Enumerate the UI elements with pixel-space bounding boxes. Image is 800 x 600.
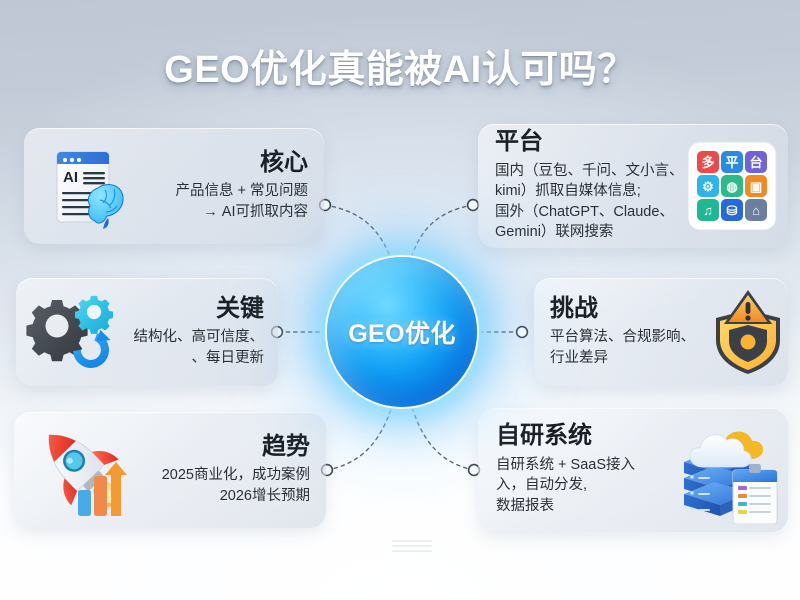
svg-text:多: 多 (701, 155, 714, 170)
card-platform[interactable]: 平台 国内（豆包、千问、文小言、 kimi）抓取自媒体信息; 国外（ChatGP… (478, 124, 788, 248)
page-title: GEO优化真能被AI认可吗？ (0, 38, 800, 93)
server-cloud-report-icon (676, 416, 784, 524)
svg-text:⚙: ⚙ (702, 179, 714, 194)
gears-refresh-icon (24, 284, 120, 380)
connector-path-trend-card (327, 404, 393, 470)
card-core-title: 核心 (260, 150, 308, 176)
card-key-title: 关键 (216, 296, 264, 322)
connector-path-core-card (325, 205, 392, 261)
card-challenge[interactable]: 挑战 平台算法、合规影响、 行业差异 (534, 278, 788, 386)
card-challenge-desc: 平台算法、合规影响、 行业差异 (550, 327, 695, 368)
card-system[interactable]: 自研系统 自研系统 + SaaS接入 入，自动分发, 数据报表 (478, 408, 788, 532)
card-platform-desc: 国内（豆包、千问、文小言、 kimi）抓取自媒体信息; 国外（ChatGPT、C… (495, 161, 684, 243)
infographic-canvas: GEO优化真能被AI认可吗？ (0, 0, 800, 600)
card-system-desc: 自研系统 + SaaS接入 入，自动分发, 数据报表 (496, 455, 635, 517)
connector-node-platform-card (468, 200, 479, 211)
card-key[interactable]: 关键 结构化、高可信度、 、每日更新 (16, 278, 278, 386)
svg-text:◍: ◍ (726, 179, 737, 194)
card-trend-title: 趋势 (262, 434, 310, 460)
svg-text:AI: AI (63, 169, 78, 186)
connector-node-challenge-card (517, 327, 528, 338)
connector-path-platform-card (410, 205, 473, 261)
card-trend-desc: 2025商业化，成功案例 2026增长预期 (162, 465, 310, 506)
card-system-title: 自研系统 (496, 423, 592, 449)
card-trend[interactable]: 趋势 2025商业化，成功案例 2026增长预期 (14, 412, 326, 528)
card-key-desc: 结构化、高可信度、 、每日更新 (134, 327, 265, 368)
svg-text:平: 平 (725, 155, 738, 170)
svg-text:♫: ♫ (703, 203, 713, 218)
shield-warning-icon (702, 284, 794, 380)
svg-text:台: 台 (749, 155, 762, 170)
card-core-desc: 产品信息 + 常见问题 → AI可抓取内容 (175, 181, 308, 222)
center-node[interactable]: GEO优化 (327, 257, 477, 407)
svg-text:⛁: ⛁ (727, 203, 738, 218)
svg-text:⌂: ⌂ (752, 203, 760, 218)
center-node-label: GEO优化 (348, 314, 456, 350)
card-challenge-title: 挑战 (550, 296, 598, 322)
connector-path-system-card (411, 404, 474, 470)
card-core[interactable]: AI (24, 128, 324, 244)
card-platform-title: 平台 (495, 129, 543, 155)
watermark (392, 540, 432, 566)
app-grid-icon: 多 平 台 ⚙ ◍ ▣ ♫ ⛁ ⌂ (686, 138, 778, 234)
svg-text:▣: ▣ (750, 179, 762, 194)
